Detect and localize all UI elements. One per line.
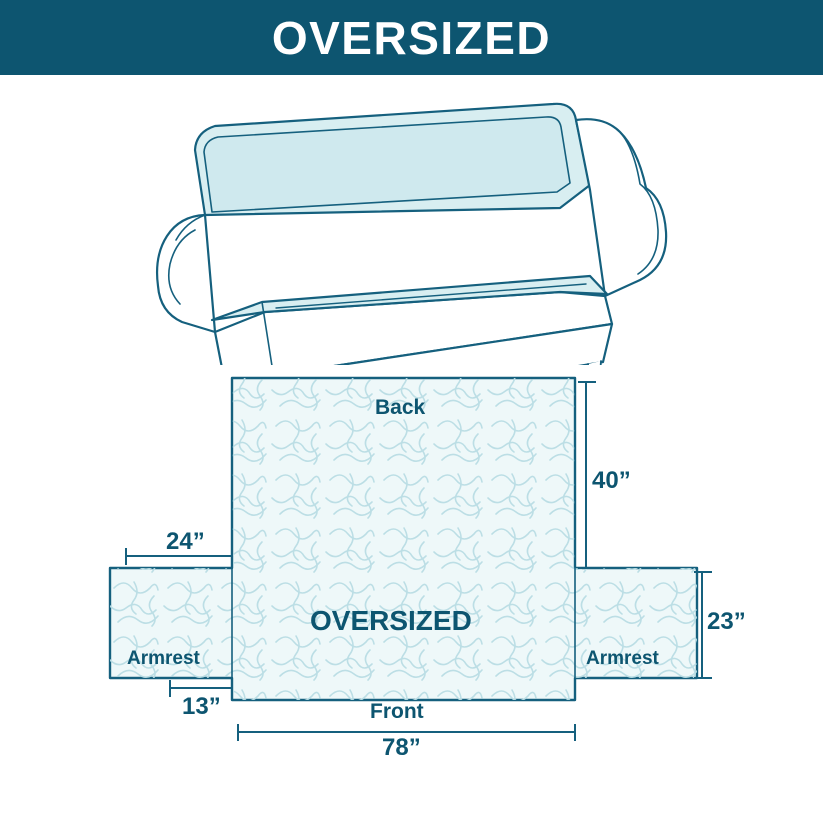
sofa-line-drawing-svg: [0, 80, 823, 365]
dimension-label-back-height: 40”: [592, 467, 631, 495]
dimension-label-front-offset: 13”: [182, 693, 221, 721]
label-size-center: OVERSIZED: [310, 605, 472, 637]
label-armrest-left: Armrest: [127, 648, 200, 670]
page-root: OVERSIZED: [0, 0, 823, 823]
dimension-label-back-width-offset: 24”: [166, 528, 205, 556]
label-back: Back: [375, 396, 425, 420]
page-title: OVERSIZED: [272, 15, 551, 61]
dimension-label-total-width: 78”: [382, 734, 421, 762]
sofa-right-arm: [576, 119, 666, 296]
label-armrest-right: Armrest: [586, 648, 659, 670]
label-front: Front: [370, 700, 424, 724]
header-banner: OVERSIZED: [0, 0, 823, 75]
sofa-illustration: [0, 80, 823, 365]
sofa-left-arm: [157, 215, 215, 332]
dimension-label-armrest-depth: 23”: [707, 608, 746, 636]
